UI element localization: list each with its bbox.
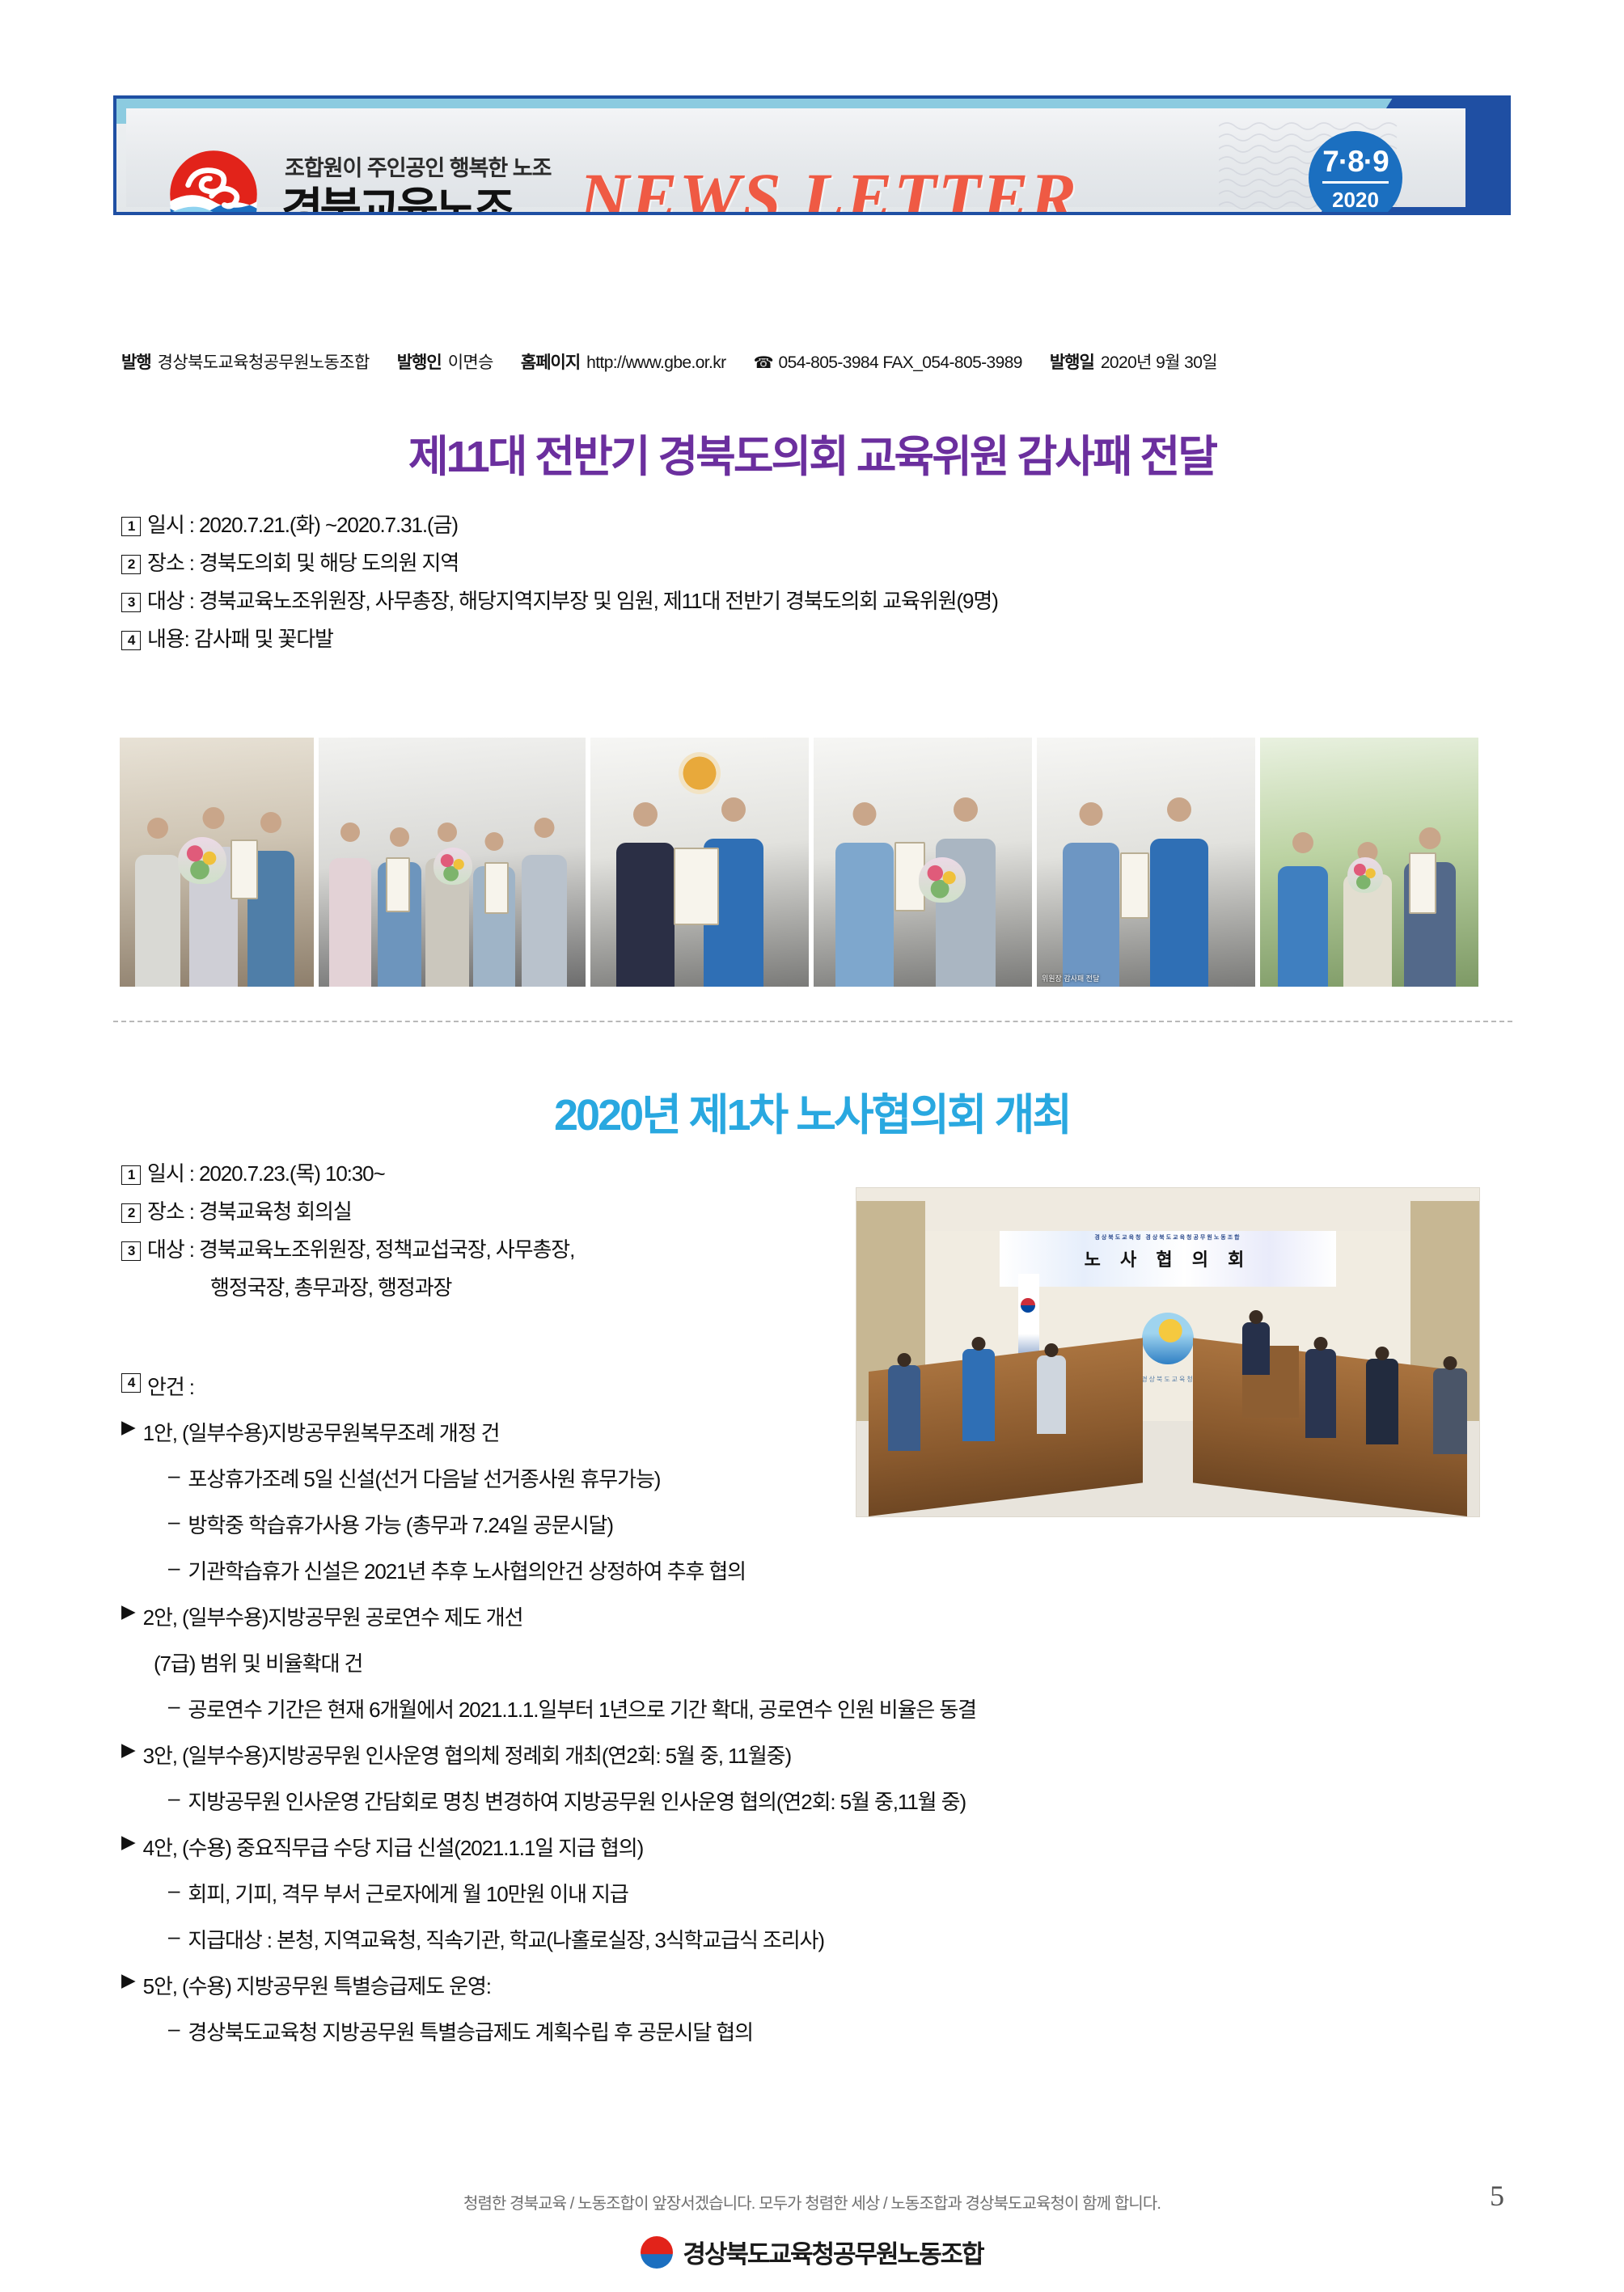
list-item-number: 4	[121, 1373, 141, 1393]
dash-icon: –	[168, 2016, 179, 2041]
masthead-banner: 조합원이 주인공인 행복한 노조 경북교육노조 NEWS LETTER 7·8·…	[113, 95, 1511, 215]
publisher-info-bar: 발행 경상북도교육청공무원노동조합 발행인 이면승 홈페이지 http://ww…	[121, 349, 1506, 374]
dash-icon: –	[168, 1694, 179, 1719]
agenda-item-title: 5안, (수용) 지방공무원 특별승급제도 운영:	[143, 1970, 491, 2000]
photo-award-ceremony-2	[319, 738, 586, 987]
agenda-sub-item: – 경상북도교육청 지방공무원 특별승급제도 계획수립 후 공문시달 협의	[168, 2016, 976, 2046]
meeting-banner: 경상북도교육청 경상북도교육청공무원노동조합 노 사 협 의 회	[1000, 1231, 1336, 1287]
meeting-banner-title: 노 사 협 의 회	[1085, 1245, 1252, 1271]
list-item-number: 2	[121, 1203, 141, 1223]
publisher-date: 발행일 2020년 9월 30일	[1050, 349, 1217, 374]
list-item-continuation: 행정국장, 총무과장, 행정과장	[121, 1277, 574, 1298]
list-item: 4 내용: 감사패 및 꽃다발	[121, 628, 998, 649]
publisher-homepage-label: 홈페이지	[521, 349, 580, 374]
agenda-item-title: 2안, (일부수용)지방공무원 공로연수 제도 개선	[143, 1601, 523, 1631]
publisher-phone-value: 054-805-3984 FAX_054-805-3989	[779, 353, 1022, 373]
triangle-right-icon: ▶	[121, 1601, 135, 1621]
list-item: 1 일시 : 2020.7.21.(화) ~2020.7.31.(금)	[121, 514, 998, 535]
agenda-item: ▶ 3안, (일부수용)지방공무원 인사운영 협의체 정례회 개최(연2회: 5…	[121, 1740, 976, 1770]
agenda-sub-text: 기관학습휴가 신설은 2021년 추후 노사협의안건 상정하여 추후 협의	[188, 1555, 746, 1585]
publisher-person-label: 발행인	[397, 349, 442, 374]
agenda-sub-text: 공로연수 기간은 현재 6개월에서 2021.1.1.일부터 1년으로 기간 확…	[188, 1694, 976, 1723]
agenda-sub-item: – 포상휴가조례 5일 신설(선거 다음날 선거종사원 휴무가능)	[168, 1463, 976, 1493]
list-item: 2 장소 : 경북교육청 회의실	[121, 1201, 574, 1222]
section1-title: 제11대 전반기 경북도의회 교육위원 감사패 전달	[0, 421, 1624, 484]
list-item-number: 3	[121, 593, 141, 612]
agenda-sub-text: 포상휴가조례 5일 신설(선거 다음날 선거종사원 휴무가능)	[188, 1463, 660, 1493]
section1-detail-list: 1 일시 : 2020.7.21.(화) ~2020.7.31.(금) 2 장소…	[121, 514, 998, 666]
photo-award-ceremony-1	[120, 738, 314, 987]
list-item: 3 대상 : 경북교육노조위원장, 사무총장, 해당지역지부장 및 임원, 제1…	[121, 590, 998, 611]
publisher-phone: ☎ 054-805-3984 FAX_054-805-3989	[754, 353, 1022, 373]
list-item-label: 장소 : 경북교육청 회의실	[147, 1201, 352, 1222]
publisher-person-value: 이면승	[448, 349, 493, 374]
union-emblem-icon	[641, 2236, 673, 2269]
publisher-homepage[interactable]: 홈페이지 http://www.gbe.or.kr	[521, 349, 726, 374]
agenda-sub-item: – 회피, 기피, 격무 부서 근로자에게 월 10만원 이내 지급	[168, 1878, 976, 1908]
provincial-emblem-icon	[679, 752, 721, 794]
list-item-number: 1	[121, 517, 141, 536]
publisher-issuer: 발행 경상북도교육청공무원노동조합	[121, 349, 370, 374]
section2-title: 2020년 제1차 노사협의회 개최	[0, 1079, 1624, 1143]
agenda-sub-text: 경상북도교육청 지방공무원 특별승급제도 계획수립 후 공문시달 협의	[188, 2016, 753, 2046]
list-item: 2 장소 : 경북도의회 및 해당 도의원 지역	[121, 552, 998, 573]
agenda-sub-item: – 지방공무원 인사운영 간담회로 명칭 변경하여 지방공무원 인사운영 협의(…	[168, 1786, 976, 1816]
triangle-right-icon: ▶	[121, 1740, 135, 1759]
list-item-number: 2	[121, 555, 141, 574]
issue-badge-months: 7·8·9	[1322, 146, 1388, 184]
list-item-label: 대상 : 경북교육노조위원장, 사무총장, 해당지역지부장 및 임원, 제11대…	[147, 590, 998, 611]
agenda-sub-item: – 지급대상 : 본청, 지역교육청, 직속기관, 학교(나홀로실장, 3식학교…	[168, 1924, 976, 1954]
list-item: 1 일시 : 2020.7.23.(목) 10:30~	[121, 1163, 574, 1184]
union-emblem-icon	[168, 149, 259, 215]
agenda-item-continuation: (7급) 범위 및 비율확대 건	[154, 1647, 976, 1677]
agenda-item-title: 4안, (수용) 중요직무급 수당 지급 신설(2021.1.1일 지급 협의)	[143, 1832, 644, 1862]
publisher-issuer-value: 경상북도교육청공무원노동조합	[158, 349, 370, 374]
publisher-homepage-value[interactable]: http://www.gbe.or.kr	[586, 353, 725, 373]
newsletter-page: 조합원이 주인공인 행복한 노조 경북교육노조 NEWS LETTER 7·8·…	[0, 0, 1624, 2292]
list-item-label: 일시 : 2020.7.21.(화) ~2020.7.31.(금)	[147, 514, 458, 535]
list-item-number: 1	[121, 1165, 141, 1185]
photo-award-ceremony-6	[1260, 738, 1478, 987]
agenda-item: ▶ 5안, (수용) 지방공무원 특별승급제도 운영:	[121, 1970, 976, 2000]
masthead-inner-panel: 조합원이 주인공인 행복한 노조 경북교육노조 NEWS LETTER 7·8·…	[126, 108, 1465, 207]
section2-agenda: 4 안건 : ▶ 1안, (일부수용)지방공무원복무조례 개정 건 – 포상휴가…	[121, 1371, 976, 2062]
masthead-newsletter-wordmark: NEWS LETTER	[579, 157, 1078, 215]
agenda-sub-text: 지급대상 : 본청, 지역교육청, 직속기관, 학교(나홀로실장, 3식학교급식…	[188, 1924, 824, 1954]
footer-slogan: 청렴한 경북교육 / 노동조합이 앞장서겠습니다. 모두가 청렴한 세상 / 노…	[0, 2190, 1624, 2214]
agenda-sub-item: – 기관학습휴가 신설은 2021년 추후 노사협의안건 상정하여 추후 협의	[168, 1555, 976, 1585]
photo-award-ceremony-4	[814, 738, 1032, 987]
office-of-education-logo-label: 경상북도교육청	[1141, 1375, 1195, 1384]
agenda-sub-text: 회피, 기피, 격무 부서 근로자에게 월 10만원 이내 지급	[188, 1878, 628, 1908]
dash-icon: –	[168, 1786, 179, 1811]
dash-icon: –	[168, 1924, 179, 1949]
photo-award-ceremony-5: 위원장 감사패 전달	[1037, 738, 1255, 987]
footer-organization: 경상북도교육청공무원노동조합	[0, 2234, 1624, 2270]
office-of-education-logo-icon	[1142, 1313, 1194, 1364]
publisher-issuer-label: 발행	[121, 349, 151, 374]
agenda-item: ▶ 4안, (수용) 중요직무급 수당 지급 신설(2021.1.1일 지급 협…	[121, 1832, 976, 1862]
list-item-label: 장소 : 경북도의회 및 해당 도의원 지역	[147, 552, 459, 573]
list-item-number: 4	[121, 631, 141, 650]
photo-award-ceremony-3	[590, 738, 809, 987]
agenda-sub-item: – 공로연수 기간은 현재 6개월에서 2021.1.1.일부터 1년으로 기간…	[168, 1694, 976, 1723]
agenda-sub-text: 지방공무원 인사운영 간담회로 명칭 변경하여 지방공무원 인사운영 협의(연2…	[188, 1786, 966, 1816]
footer-organization-name: 경상북도교육청공무원노동조합	[683, 2234, 983, 2270]
agenda-item: ▶ 2안, (일부수용)지방공무원 공로연수 제도 개선	[121, 1601, 976, 1631]
section1-photo-strip: 위원장 감사패 전달	[120, 738, 1508, 987]
triangle-right-icon: ▶	[121, 1417, 135, 1436]
section2-detail-list: 1 일시 : 2020.7.23.(목) 10:30~ 2 장소 : 경북교육청…	[121, 1163, 574, 1298]
list-item-label: 일시 : 2020.7.23.(목) 10:30~	[147, 1163, 385, 1184]
dash-icon: –	[168, 1878, 179, 1903]
triangle-right-icon: ▶	[121, 1832, 135, 1851]
masthead-korean-title: 경북교육노조	[281, 173, 512, 215]
publisher-date-label: 발행일	[1050, 349, 1094, 374]
dash-icon: –	[168, 1509, 179, 1534]
list-item: 3 대상 : 경북교육노조위원장, 정책교섭국장, 사무총장,	[121, 1239, 574, 1260]
dash-icon: –	[168, 1463, 179, 1488]
issue-badge: 7·8·9 2020	[1309, 131, 1402, 215]
agenda-item-title: 3안, (일부수용)지방공무원 인사운영 협의체 정례회 개최(연2회: 5월 …	[143, 1740, 791, 1770]
agenda-sub-text: 방학중 학습휴가사용 가능 (총무과 7.24일 공문시달)	[188, 1509, 613, 1539]
publisher-person: 발행인 이면승	[397, 349, 493, 374]
page-number: 5	[1490, 2179, 1504, 2213]
meeting-banner-subtitle: 경상북도교육청 경상북도교육청공무원노동조합	[1094, 1233, 1241, 1241]
agenda-item-title: 1안, (일부수용)지방공무원복무조례 개정 건	[143, 1417, 500, 1447]
list-item-number: 3	[121, 1241, 141, 1261]
agenda-sub-item: – 방학중 학습휴가사용 가능 (총무과 7.24일 공문시달)	[168, 1509, 976, 1539]
list-item-label: 내용: 감사패 및 꽃다발	[147, 628, 333, 649]
dash-icon: –	[168, 1555, 179, 1580]
agenda-item: ▶ 1안, (일부수용)지방공무원복무조례 개정 건	[121, 1417, 976, 1447]
publisher-date-value: 2020년 9월 30일	[1101, 349, 1217, 374]
telephone-icon: ☎	[754, 353, 774, 373]
triangle-right-icon: ▶	[121, 1970, 135, 1990]
issue-badge-year: 2020	[1332, 189, 1379, 210]
agenda-label: 안건 :	[147, 1371, 194, 1401]
section-divider	[113, 1021, 1512, 1022]
agenda-label-row: 4 안건 :	[121, 1371, 976, 1401]
photo-caption: 위원장 감사패 전달	[1042, 973, 1250, 983]
list-item-label: 대상 : 경북교육노조위원장, 정책교섭국장, 사무총장,	[147, 1239, 574, 1260]
